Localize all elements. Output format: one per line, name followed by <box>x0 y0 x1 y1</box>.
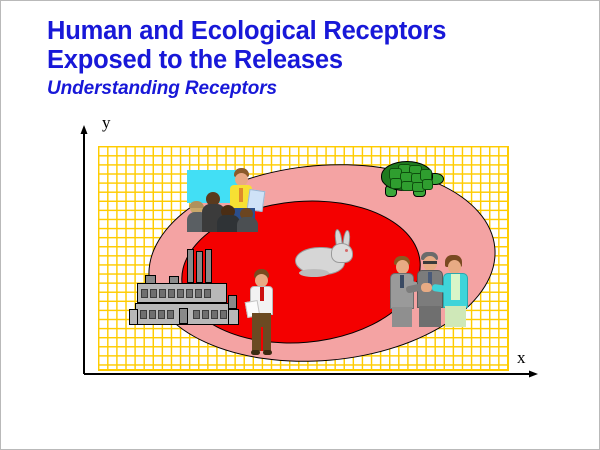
handshake-hands <box>421 283 432 292</box>
page-title-line-1: Human and Ecological Receptors <box>47 17 587 46</box>
worker-shoe-left <box>251 350 260 355</box>
x-axis-arrowhead <box>529 371 538 378</box>
factory-annex-left <box>129 309 138 325</box>
teacher-tie <box>239 188 243 202</box>
rabbit-head <box>331 243 353 263</box>
x-axis-label: x <box>517 348 526 368</box>
classroom-group <box>187 168 277 235</box>
factory-lower-floor <box>135 303 229 325</box>
y-axis-arrowhead <box>81 125 88 134</box>
page-title-line-2: Exposed to the Releases <box>47 46 587 75</box>
tortoise-icon <box>375 159 445 203</box>
worker-leg-gap <box>261 327 263 351</box>
factory-smokestack-2 <box>196 251 203 283</box>
factory-smokestack-3 <box>205 249 212 283</box>
slide-canvas: Human and Ecological Receptors Exposed t… <box>0 0 600 450</box>
worker-icon <box>246 269 278 357</box>
factory-upper-floor <box>137 283 227 303</box>
factory-door <box>179 308 188 324</box>
page-subtitle: Understanding Receptors <box>47 77 587 101</box>
factory-icon <box>129 249 247 327</box>
rabbit-foot <box>299 269 329 277</box>
business-handshake-icon <box>388 247 472 329</box>
tortoise-shell <box>381 161 433 191</box>
factory-tank-right <box>228 295 237 309</box>
factory-smokestack-1 <box>187 249 194 283</box>
title-block: Human and Ecological Receptors Exposed t… <box>47 17 587 101</box>
rabbit-icon <box>293 229 359 281</box>
businessman-glasses <box>423 261 437 264</box>
factory-annex-right <box>228 309 239 325</box>
rabbit-eye <box>345 249 348 252</box>
worker-shoe-right <box>263 350 272 355</box>
businesswoman-blouse <box>451 274 460 300</box>
worker-tie <box>260 287 264 301</box>
y-axis-label: y <box>102 113 111 133</box>
